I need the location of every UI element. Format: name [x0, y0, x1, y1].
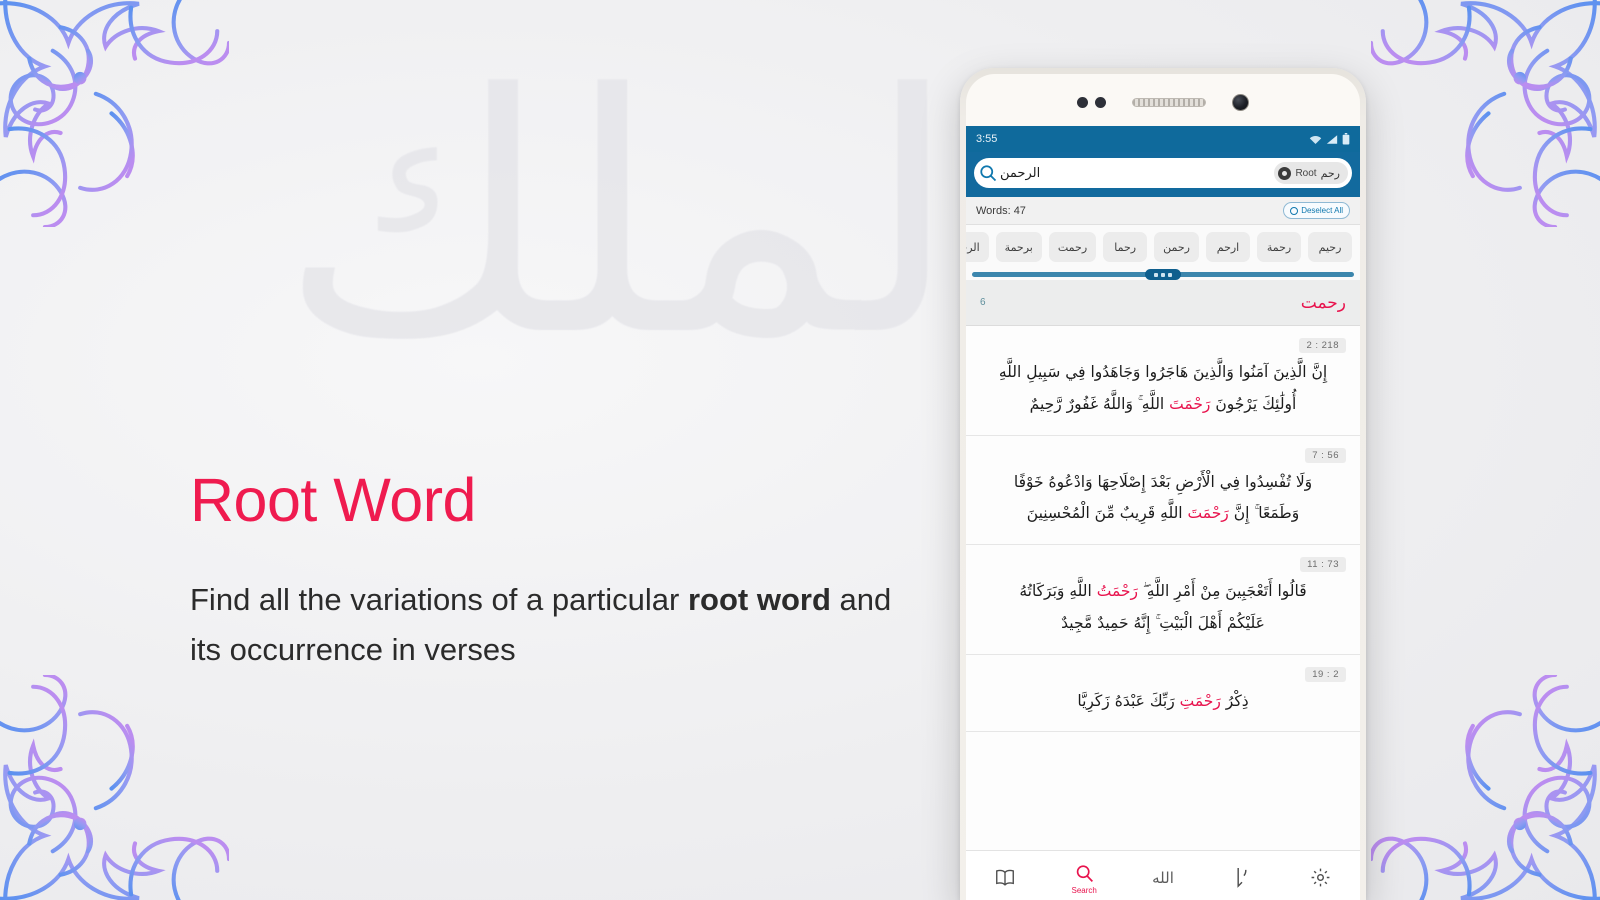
words-count-label: Words: 47 — [976, 205, 1026, 217]
status-icons — [1309, 133, 1350, 145]
verse-line-2-pre: أُولَٰئِكَ يَرْجُونَ — [1210, 395, 1296, 413]
phone-mockup: 3:55 — [960, 68, 1366, 900]
word-chip[interactable]: رحمة — [1257, 232, 1301, 262]
arabic-script-icon: الله — [1152, 869, 1174, 887]
verse-reference: 19 : 2 — [1305, 667, 1346, 682]
verse-reference: 11 : 73 — [1300, 557, 1346, 572]
verse-line-1: إِنَّ الَّذِينَ آمَنُوا وَالَّذِينَ هَاج… — [999, 363, 1327, 381]
verse-highlight: رَحْمَتُ — [1097, 582, 1138, 600]
hero-copy: Root Word Find all the variations of a p… — [190, 470, 910, 675]
front-camera-icon — [1232, 94, 1249, 111]
ornament-bottom-left — [0, 675, 229, 900]
verse-highlight: رَحْمَتِ — [1180, 692, 1221, 710]
section-root-word: رحمت — [1301, 293, 1346, 313]
page-title: Root Word — [190, 470, 910, 531]
bottom-navigation: Search الله — [966, 850, 1360, 900]
search-filter-group[interactable]: Root رحم — [1274, 162, 1348, 184]
signal-icon — [1326, 134, 1338, 145]
word-chip[interactable]: رحمن — [1154, 232, 1199, 262]
verse-item[interactable]: 11 : 73 قَالُوا أَتَعْجَبِينَ مِنْ أَمْر… — [966, 545, 1360, 655]
phone-top-hardware — [966, 74, 1360, 126]
hero-desc-strong: root word — [688, 582, 831, 617]
verse-line-1-post: رَبِّكَ عَبْدَهُ زَكَرِيَّا — [1077, 692, 1179, 710]
word-chip[interactable]: الرحيم — [966, 232, 989, 262]
verse-line-1-pre: قَالُوا أَتَعْجَبِينَ مِنْ أَمْرِ اللَّه… — [1138, 582, 1307, 600]
phone-body: 3:55 — [966, 74, 1360, 900]
sensor-icon — [1077, 97, 1106, 108]
radio-selected-icon — [1278, 167, 1291, 180]
hero-description: Find all the variations of a particular … — [190, 575, 910, 675]
verse-item[interactable]: 2 : 218 إِنَّ الَّذِينَ آمَنُوا وَالَّذِ… — [966, 326, 1360, 436]
root-chip-arabic: رحم — [1321, 167, 1340, 180]
ornament-top-left — [0, 0, 229, 227]
word-chip[interactable]: رحيم — [1308, 232, 1352, 262]
word-chip[interactable]: برحمة — [996, 232, 1042, 262]
search-query-value[interactable]: الرحمن — [1000, 166, 1044, 181]
promo-banner: الملك — [0, 0, 1600, 900]
ornament-top-right — [1371, 0, 1600, 227]
nav-item-quran[interactable] — [973, 868, 1037, 889]
word-chip[interactable]: رحمت — [1049, 232, 1096, 262]
verse-reference: 7 : 56 — [1305, 448, 1346, 463]
section-count: 6 — [980, 297, 986, 308]
hero-desc-part1: Find all the variations of a particular — [190, 582, 688, 617]
verse-item[interactable]: 7 : 56 وَلَا تُفْسِدُوا فِي الْأَرْضِ بَ… — [966, 436, 1360, 546]
quran-book-icon — [994, 868, 1016, 887]
earpiece-speaker-icon — [1132, 98, 1206, 107]
wifi-icon — [1309, 134, 1322, 145]
search-icon[interactable] — [978, 163, 998, 183]
ornament-bottom-right — [1371, 675, 1600, 900]
verse-text: وَلَا تُفْسِدُوا فِي الْأَرْضِ بَعْدَ إِ… — [980, 467, 1346, 531]
verse-item[interactable]: 19 : 2 ذِكْرُ رَحْمَتِ رَبِّكَ عَبْدَهُ … — [966, 655, 1360, 733]
verse-line-2: عَلَيْكُمْ أَهْلَ الْبَيْتِ ۚ إِنَّهُ حَ… — [1061, 614, 1265, 632]
search-input[interactable]: Root رحم الرحمن — [974, 158, 1352, 188]
verse-text: قَالُوا أَتَعْجَبِينَ مِنْ أَمْرِ اللَّه… — [980, 576, 1346, 640]
background-calligraphy-watermark: الملك — [430, 60, 1050, 530]
deselect-icon — [1290, 207, 1298, 215]
battery-icon — [1342, 133, 1350, 145]
verse-results-list[interactable]: 2 : 218 إِنَّ الَّذِينَ آمَنُوا وَالَّذِ… — [966, 326, 1360, 850]
verse-text: إِنَّ الَّذِينَ آمَنُوا وَالَّذِينَ هَاج… — [980, 357, 1346, 421]
word-chips-row[interactable]: رحيم رحمة ارحم رحمن رحما رحمت برحمة الرح… — [966, 225, 1360, 269]
verse-reference: 2 : 218 — [1299, 338, 1346, 353]
search-bar: Root رحم الرحمن — [966, 152, 1360, 197]
word-chip[interactable]: رحما — [1103, 232, 1147, 262]
verse-line-1-pre: ذِكْرُ — [1221, 692, 1249, 710]
phone-screen: 3:55 — [966, 126, 1360, 900]
deselect-all-label: Deselect All — [1301, 206, 1343, 215]
nav-item-bookmark[interactable] — [1210, 867, 1274, 890]
root-filter-chip[interactable]: Root رحم — [1274, 162, 1348, 184]
nav-item-arabic[interactable]: الله — [1131, 869, 1195, 889]
drag-handle-icon[interactable] — [1145, 269, 1181, 280]
verse-line-1: وَلَا تُفْسِدُوا فِي الْأَرْضِ بَعْدَ إِ… — [1014, 473, 1312, 491]
deselect-all-button[interactable]: Deselect All — [1283, 202, 1350, 219]
verse-line-1-post: اللَّهِ وَبَرَكَاتُهُ — [1019, 582, 1096, 600]
word-chip[interactable]: ارحم — [1206, 232, 1250, 262]
nav-label-search: Search — [1072, 886, 1097, 895]
words-bar: Words: 47 Deselect All — [966, 197, 1360, 225]
verse-highlight: رَحْمَتَ — [1169, 395, 1210, 413]
verse-line-2-pre: وَطَمَعًا ۚ إِنَّ — [1229, 504, 1299, 522]
verse-line-2-post: اللَّهِ ۚ وَاللَّهُ غَفُورٌ رَّحِيمٌ — [1030, 395, 1170, 413]
search-icon — [1074, 863, 1095, 884]
root-chip-label: Root — [1295, 168, 1316, 179]
gear-icon — [1310, 867, 1331, 888]
nav-item-settings[interactable] — [1289, 867, 1353, 890]
verse-text: ذِكْرُ رَحْمَتِ رَبِّكَ عَبْدَهُ زَكَرِي… — [980, 686, 1346, 718]
status-time: 3:55 — [976, 133, 997, 145]
nav-item-search[interactable]: Search — [1052, 863, 1116, 895]
verse-line-2-post: اللَّهِ قَرِيبٌ مِّنَ الْمُحْسِنِينَ — [1027, 504, 1188, 522]
panel-resize-handle[interactable] — [966, 269, 1360, 280]
result-section-header: 6 رحمت — [966, 280, 1360, 326]
status-bar: 3:55 — [966, 126, 1360, 152]
bookmark-icon — [1234, 867, 1250, 888]
verse-highlight: رَحْمَتَ — [1188, 504, 1229, 522]
